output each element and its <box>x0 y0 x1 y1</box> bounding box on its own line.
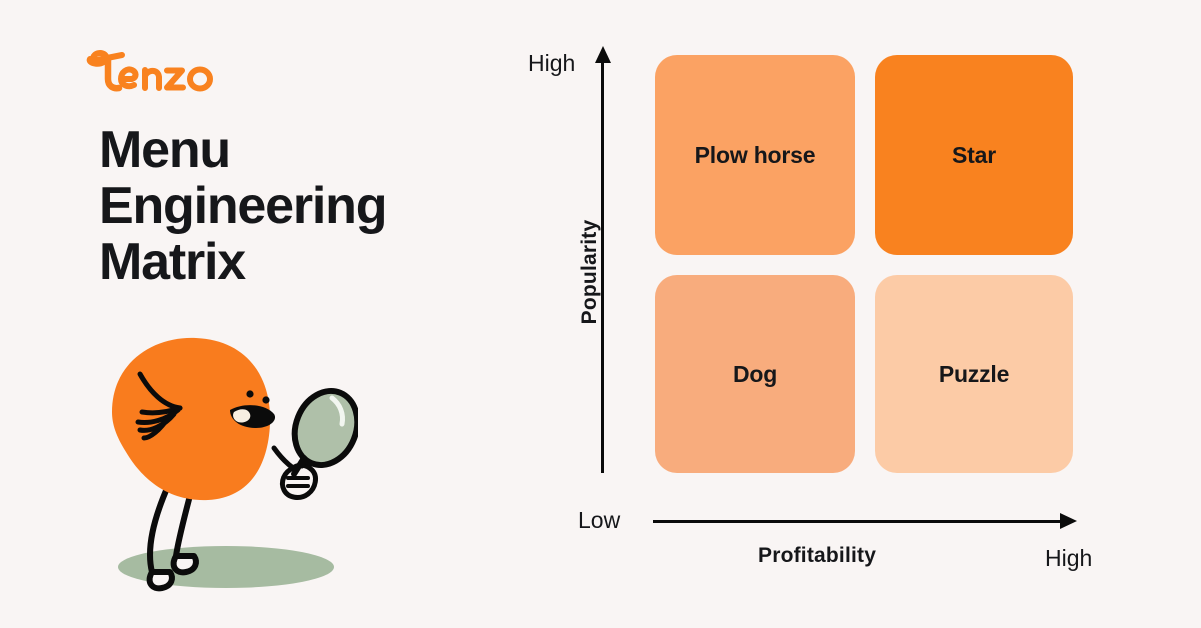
y-axis-title: Popularity <box>578 202 602 342</box>
page-title-line-1: Menu <box>99 122 489 178</box>
mascot-illustration <box>88 328 358 600</box>
mascot-eye-right <box>262 396 269 403</box>
page-title-line-3: Matrix <box>99 234 489 290</box>
quadrant-label: Puzzle <box>939 361 1009 388</box>
quadrant-star[interactable]: Star <box>875 55 1073 255</box>
quadrant-plow-horse[interactable]: Plow horse <box>655 55 855 255</box>
x-axis-low-label: Low <box>578 507 620 534</box>
left-panel: Menu Engineering Matrix <box>0 0 520 628</box>
quadrant-label: Dog <box>733 361 777 388</box>
page-title: Menu Engineering Matrix <box>99 122 489 290</box>
x-axis-high-label: High <box>1045 545 1092 572</box>
magnifying-glass-icon <box>284 382 358 475</box>
quadrant-label: Star <box>952 142 996 169</box>
x-axis-arrowhead <box>1060 513 1077 529</box>
x-axis-line <box>653 520 1065 523</box>
quadrant-label: Plow horse <box>695 142 816 169</box>
quadrant-dog[interactable]: Dog <box>655 275 855 473</box>
quadrant-puzzle[interactable]: Puzzle <box>875 275 1073 473</box>
tenzo-logo[interactable] <box>86 48 216 94</box>
x-axis-title: Profitability <box>758 544 876 568</box>
y-axis-high-label: High <box>528 50 575 77</box>
page-title-line-2: Engineering <box>99 178 489 234</box>
mascot-eye-left <box>246 390 253 397</box>
